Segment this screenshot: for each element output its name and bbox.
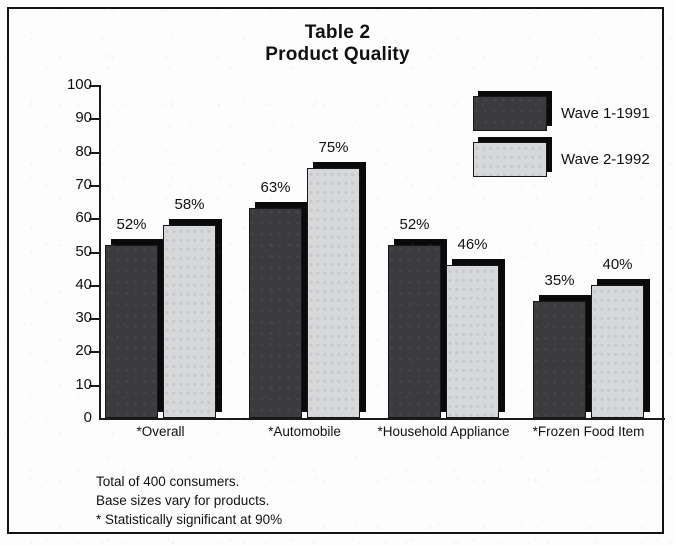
footnote-line-2: Base sizes vary for products. [96, 491, 282, 510]
y-tick-label: 50 [52, 243, 92, 260]
y-tick-mark [89, 118, 101, 120]
bar-body [249, 208, 302, 418]
y-axis-tick-labels: 0102030405060708090100 [52, 85, 92, 418]
bar-body [163, 225, 216, 418]
chart-title: Table 2 Product Quality [0, 22, 675, 66]
bar-body [533, 301, 586, 418]
bar-body [591, 285, 644, 418]
bar-wave2[interactable]: 40% [591, 285, 644, 418]
legend-swatch-wave2[interactable] [473, 142, 547, 177]
y-tick-label: 80 [52, 143, 92, 160]
bar-wave1[interactable]: 63% [249, 208, 302, 418]
bar-value-label: 75% [299, 139, 369, 156]
y-tick-label: 20 [52, 342, 92, 359]
y-tick-label: 40 [52, 276, 92, 293]
y-tick-mark [89, 85, 101, 87]
bar-value-label: 46% [438, 236, 508, 253]
y-tick-mark [89, 385, 101, 387]
chart-title-line2: Product Quality [0, 44, 675, 66]
bar-wave1[interactable]: 52% [388, 245, 441, 418]
bar-value-label: 52% [97, 216, 167, 233]
y-tick-label: 100 [52, 76, 92, 93]
footnote-line-1: Total of 400 consumers. [96, 472, 282, 491]
legend-label: Wave 2-1992 [561, 151, 650, 168]
bar-value-label: 40% [583, 256, 653, 273]
bar-body [105, 245, 158, 418]
bar-body [446, 265, 499, 418]
y-tick-label: 90 [52, 109, 92, 126]
y-tick-mark [89, 351, 101, 353]
bar-body [307, 168, 360, 418]
y-tick-label: 10 [52, 376, 92, 393]
y-tick-mark [89, 152, 101, 154]
bar-wave1[interactable]: 52% [105, 245, 158, 418]
y-tick-mark [89, 318, 101, 320]
chart-title-line1: Table 2 [305, 22, 370, 43]
y-tick-mark [89, 285, 101, 287]
y-tick-label: 60 [52, 209, 92, 226]
y-tick-label: 30 [52, 309, 92, 326]
bar-value-label: 63% [241, 179, 311, 196]
bar-wave1[interactable]: 35% [533, 301, 586, 418]
bar-wave2[interactable]: 46% [446, 265, 499, 418]
chart-footnotes: Total of 400 consumers. Base sizes vary … [96, 472, 282, 529]
plot-area: 52%58%63%75%52%46%35%40% [101, 85, 664, 418]
x-axis-line [101, 418, 665, 420]
bar-wave2[interactable]: 58% [163, 225, 216, 418]
chart-page: Table 2 Product Quality 0102030405060708… [0, 0, 675, 545]
x-category-label: *Frozen Food Item [499, 424, 675, 439]
legend-label: Wave 1-1991 [561, 105, 650, 122]
bar-value-label: 58% [155, 196, 225, 213]
y-tick-label: 70 [52, 176, 92, 193]
bar-body [388, 245, 441, 418]
footnote-line-3: * Statistically significant at 90% [96, 510, 282, 529]
legend-swatch-wave1[interactable] [473, 96, 547, 131]
bar-value-label: 52% [380, 216, 450, 233]
bar-wave2[interactable]: 75% [307, 168, 360, 418]
bar-value-label: 35% [525, 272, 595, 289]
y-tick-mark [89, 185, 101, 187]
y-tick-mark [89, 252, 101, 254]
